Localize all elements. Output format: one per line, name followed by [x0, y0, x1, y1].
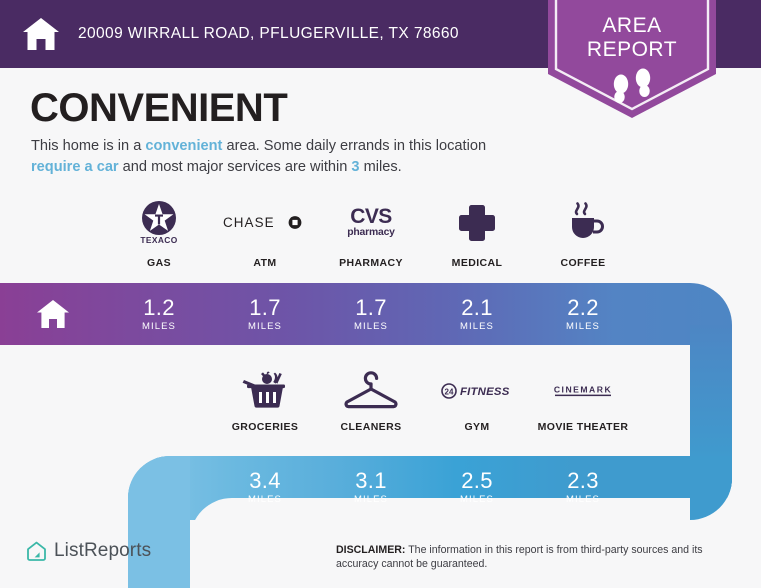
distance-value-gas: 1.2: [143, 296, 174, 319]
distance-unit-atm: MILES: [248, 321, 282, 332]
intro-text-1: This home is in a: [31, 138, 145, 154]
service-label-pharmacy: PHARMACY: [339, 257, 403, 269]
service-icon-cleaners: CLEANERS: [318, 370, 424, 433]
cinemark-logo-icon: CINEMARK: [545, 370, 621, 412]
distance-cell-gym: 2.5 MILES: [424, 456, 530, 518]
intro-highlight-1: convenient: [145, 138, 222, 154]
distance-cell-pharmacy: 1.7 MILES: [318, 283, 424, 345]
intro-text-4: miles.: [360, 159, 402, 175]
svg-text:CINEMARK: CINEMARK: [554, 385, 612, 395]
distance-row-1: 1.2 MILES 1.7 MILES 1.7 MILES 2.1 MILES …: [0, 283, 636, 345]
listreports-logo-text: ListReports: [54, 540, 151, 562]
distance-cell-atm: 1.7 MILES: [212, 283, 318, 345]
distance-unit-coffee: MILES: [566, 321, 600, 332]
distance-unit-movie-theater: MILES: [566, 494, 600, 505]
service-label-coffee: COFFEE: [561, 257, 606, 269]
distance-value-coffee: 2.2: [567, 296, 598, 319]
row1-home-marker: [0, 283, 106, 345]
distance-value-movie-theater: 2.3: [567, 469, 598, 492]
clothes-hanger-icon: [342, 370, 400, 412]
distance-cell-movie-theater: 2.3 MILES: [530, 456, 636, 518]
fitness-logo-icon: 24 FITNESS: [441, 370, 513, 412]
distance-value-gym: 2.5: [461, 469, 492, 492]
svg-text:CVS: CVS: [350, 205, 392, 228]
service-icon-pharmacy: CVS pharmacy PHARMACY: [318, 198, 424, 269]
svg-text:pharmacy: pharmacy: [347, 227, 395, 238]
svg-text:CHASE: CHASE: [223, 215, 275, 230]
area-report-badge: AREA REPORT: [540, 0, 724, 124]
texaco-logo-icon: TEXACO: [137, 198, 181, 248]
distance-unit-groceries: MILES: [248, 494, 282, 505]
distance-value-pharmacy: 1.7: [355, 296, 386, 319]
chase-logo-icon: CHASE: [223, 198, 307, 248]
services-icon-row-2: GROCERIES CLEANERS 24 FITNESS GYM: [212, 370, 636, 433]
distance-cell-coffee: 2.2 MILES: [530, 283, 636, 345]
distance-unit-pharmacy: MILES: [354, 321, 388, 332]
service-icon-gym: 24 FITNESS GYM: [424, 370, 530, 433]
area-report-page: 20009 WIRRALL ROAD, PFLUGERVILLE, TX 786…: [0, 0, 761, 588]
page-title: CONVENIENT: [30, 86, 287, 131]
distance-value-atm: 1.7: [249, 296, 280, 319]
distance-cell-gas: 1.2 MILES: [106, 283, 212, 345]
svg-text:TEXACO: TEXACO: [140, 235, 177, 245]
home-icon: [22, 17, 60, 51]
service-icon-gas: TEXACO GAS: [106, 198, 212, 269]
intro-description: This home is in a convenient area. Some …: [31, 136, 531, 178]
distance-cell-groceries: 3.4 MILES: [212, 456, 318, 518]
intro-text-2: area. Some daily errands in this locatio…: [222, 138, 486, 154]
service-label-atm: ATM: [253, 257, 276, 269]
listreports-logo: ListReports: [26, 540, 151, 562]
grocery-basket-icon: [241, 370, 289, 412]
disclaimer: DISCLAIMER: The information in this repo…: [336, 543, 740, 571]
svg-text:FITNESS: FITNESS: [460, 386, 510, 398]
distance-value-cleaners: 3.1: [355, 469, 386, 492]
distance-value-medical: 2.1: [461, 296, 492, 319]
service-icon-atm: CHASE ATM: [212, 198, 318, 269]
intro-highlight-2: require a car: [31, 159, 119, 175]
service-label-groceries: GROCERIES: [232, 421, 299, 433]
service-icon-coffee: COFFEE: [530, 198, 636, 269]
services-icon-row-1: TEXACO GAS CHASE ATM CVS pharmacy: [106, 198, 636, 269]
service-label-cleaners: CLEANERS: [341, 421, 402, 433]
listreports-logo-icon: [26, 541, 47, 562]
service-icon-groceries: GROCERIES: [212, 370, 318, 433]
medical-cross-icon: [457, 198, 497, 248]
distance-unit-cleaners: MILES: [354, 494, 388, 505]
service-label-gym: GYM: [464, 421, 489, 433]
distance-unit-gas: MILES: [142, 321, 176, 332]
distance-row-2: 3.4 MILES 3.1 MILES 2.5 MILES 2.3 MILES: [212, 456, 636, 518]
service-label-movie-theater: MOVIE THEATER: [538, 421, 629, 433]
distance-unit-gym: MILES: [460, 494, 494, 505]
coffee-cup-icon: [560, 198, 606, 248]
intro-highlight-3: 3: [351, 159, 359, 175]
cvs-pharmacy-logo-icon: CVS pharmacy: [336, 198, 406, 248]
property-address: 20009 WIRRALL ROAD, PFLUGERVILLE, TX 786…: [78, 25, 459, 43]
distance-value-groceries: 3.4: [249, 469, 280, 492]
disclaimer-label: DISCLAIMER:: [336, 544, 405, 556]
intro-text-3: and most major services are within: [119, 159, 352, 175]
distance-unit-medical: MILES: [460, 321, 494, 332]
service-label-medical: MEDICAL: [452, 257, 503, 269]
distance-cell-cleaners: 3.1 MILES: [318, 456, 424, 518]
distance-cell-medical: 2.1 MILES: [424, 283, 530, 345]
service-label-gas: GAS: [147, 257, 171, 269]
svg-text:24: 24: [445, 387, 454, 396]
service-icon-medical: MEDICAL: [424, 198, 530, 269]
service-icon-movie-theater: CINEMARK MOVIE THEATER: [530, 370, 636, 433]
